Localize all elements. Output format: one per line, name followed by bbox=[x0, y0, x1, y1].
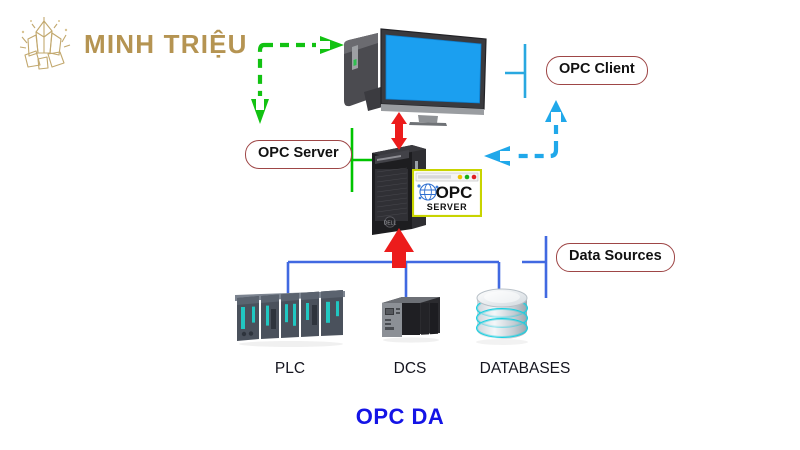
callout-opc-client[interactable]: OPC Client bbox=[546, 56, 648, 85]
device-label-plc: PLC bbox=[240, 360, 340, 378]
flow-blue-left-to-server bbox=[484, 146, 556, 166]
crystal-cluster-icon bbox=[14, 15, 76, 73]
brand-name: MINH TRIỆU bbox=[84, 31, 248, 57]
flow-blue-up-to-client bbox=[545, 100, 567, 150]
flow-red-sources-tower bbox=[384, 228, 414, 268]
diagram-title: OPC DA bbox=[0, 404, 800, 430]
brand-logo: MINH TRIỆU bbox=[14, 14, 244, 74]
callout-data-sources[interactable]: Data Sources bbox=[556, 243, 675, 272]
callout-opc-server[interactable]: OPC Server bbox=[245, 140, 352, 169]
flow-red-monitor-tower bbox=[391, 112, 407, 150]
diagram-canvas: MINH TRIỆU bbox=[0, 0, 800, 450]
flow-green-branch-down bbox=[251, 45, 269, 124]
flow-green-to-monitor bbox=[264, 36, 344, 54]
device-label-databases: DATABASES bbox=[455, 360, 595, 378]
device-label-dcs: DCS bbox=[370, 360, 450, 378]
